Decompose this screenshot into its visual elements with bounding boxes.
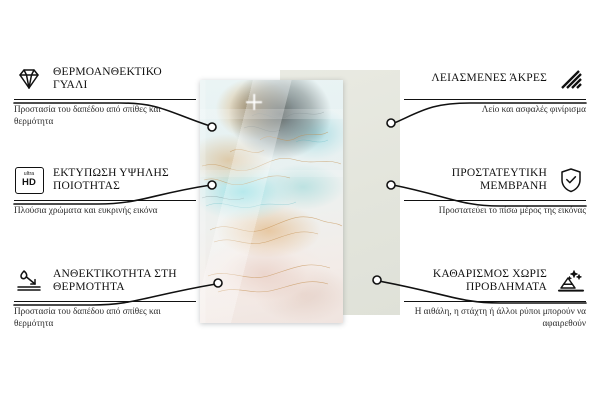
callout-divider [404,301,586,302]
callout-header: ΠΡΟΣΤΑΤΕΥΤΙΚΗ ΜΕΜΒΡΑΝΗ [404,165,586,195]
feature-callout-protective-membrane[interactable]: ΠΡΟΣΤΑΤΕΥΤΙΚΗ ΜΕΜΒΡΑΝΗ Προστατεύει το πί… [404,165,586,217]
printed-glass-panel [200,80,343,323]
callout-title: ΑΝΘΕΚΤΙΚΟΤΗΤΑ ΣΤΗ ΘΕΡΜΟΤΗΤΑ [53,268,196,295]
polished-edges-icon [556,64,586,94]
feature-callout-heat-resistant-glass[interactable]: ΘΕΡΜΟΑΝΘΕΚΤΙΚΟ ΓΥΑΛΙ Προστασία του δαπέδ… [14,64,196,128]
callout-header: ΘΕΡΜΟΑΝΘΕΚΤΙΚΟ ΓΥΑΛΙ [14,64,196,94]
diamond-icon [14,64,44,94]
callout-subtitle: Προστασία του δαπέδου από σπίθες και θερ… [14,306,196,329]
feature-callout-high-quality-print[interactable]: ultra HD ΕΚΤΥΠΩΣΗ ΥΨΗΛΗΣ ΠΟΙΟΤΗΤΑΣ Πλούσ… [14,165,196,217]
callout-divider [14,99,196,100]
callout-subtitle: Προστασία του δαπέδου από σπίθες και θερ… [14,104,196,127]
callout-header: ΛΕΙΑΣΜΕΝΕΣ ΆΚΡΕΣ [404,64,586,94]
ultra-hd-badge-icon: ultra HD [14,165,44,195]
callout-subtitle: Πλούσια χρώματα και ευκρινής εικόνα [14,205,196,217]
callout-title: ΠΡΟΣΤΑΤΕΥΤΙΚΗ ΜΕΜΒΡΑΝΗ [404,167,547,194]
infographic-canvas: ΘΕΡΜΟΑΝΘΕΚΤΙΚΟ ΓΥΑΛΙ Προστασία του δαπέδ… [0,0,600,400]
callout-title: ΘΕΡΜΟΑΝΘΕΚΤΙΚΟ ΓΥΑΛΙ [53,66,196,93]
callout-subtitle: Λείο και ασφαλές φινίρισμα [404,104,586,116]
callout-divider [14,200,196,201]
callout-divider [14,301,196,302]
ultra-hd-label-bottom: HD [22,178,36,188]
callout-header: ΑΝΘΕΚΤΙΚΟΤΗΤΑ ΣΤΗ ΘΕΡΜΟΤΗΤΑ [14,266,196,296]
product-image [180,60,420,350]
shield-check-icon [556,165,586,195]
callout-title: ΚΑΘΑΡΙΣΜΟΣ ΧΩΡΙΣ ΠΡΟΒΛΗΜΑΤΑ [404,268,547,295]
marble-veins [200,80,343,323]
feature-callout-easy-cleaning[interactable]: ΚΑΘΑΡΙΣΜΟΣ ΧΩΡΙΣ ΠΡΟΒΛΗΜΑΤΑ Η αιθάλη, η … [404,266,586,330]
feature-callout-heat-durability[interactable]: ΑΝΘΕΚΤΙΚΟΤΗΤΑ ΣΤΗ ΘΕΡΜΟΤΗΤΑ Προστασία το… [14,266,196,330]
feature-callout-polished-edges[interactable]: ΛΕΙΑΣΜΕΝΕΣ ΆΚΡΕΣ Λείο και ασφαλές φινίρι… [404,64,586,116]
flame-heat-resistance-icon [14,266,44,296]
callout-subtitle: Η αιθάλη, η στάχτη ή άλλοι ρύποι μπορούν… [404,306,586,329]
callout-title: ΛΕΙΑΣΜΕΝΕΣ ΆΚΡΕΣ [431,72,547,86]
callout-title: ΕΚΤΥΠΩΣΗ ΥΨΗΛΗΣ ΠΟΙΟΤΗΤΑΣ [53,167,196,194]
callout-subtitle: Προστατεύει το πίσω μέρος της εικόνας [404,205,586,217]
callout-header: ΚΑΘΑΡΙΣΜΟΣ ΧΩΡΙΣ ΠΡΟΒΛΗΜΑΤΑ [404,266,586,296]
callout-header: ultra HD ΕΚΤΥΠΩΣΗ ΥΨΗΛΗΣ ΠΟΙΟΤΗΤΑΣ [14,165,196,195]
callout-divider [404,99,586,100]
sparkle-clean-icon [556,266,586,296]
callout-divider [404,200,586,201]
